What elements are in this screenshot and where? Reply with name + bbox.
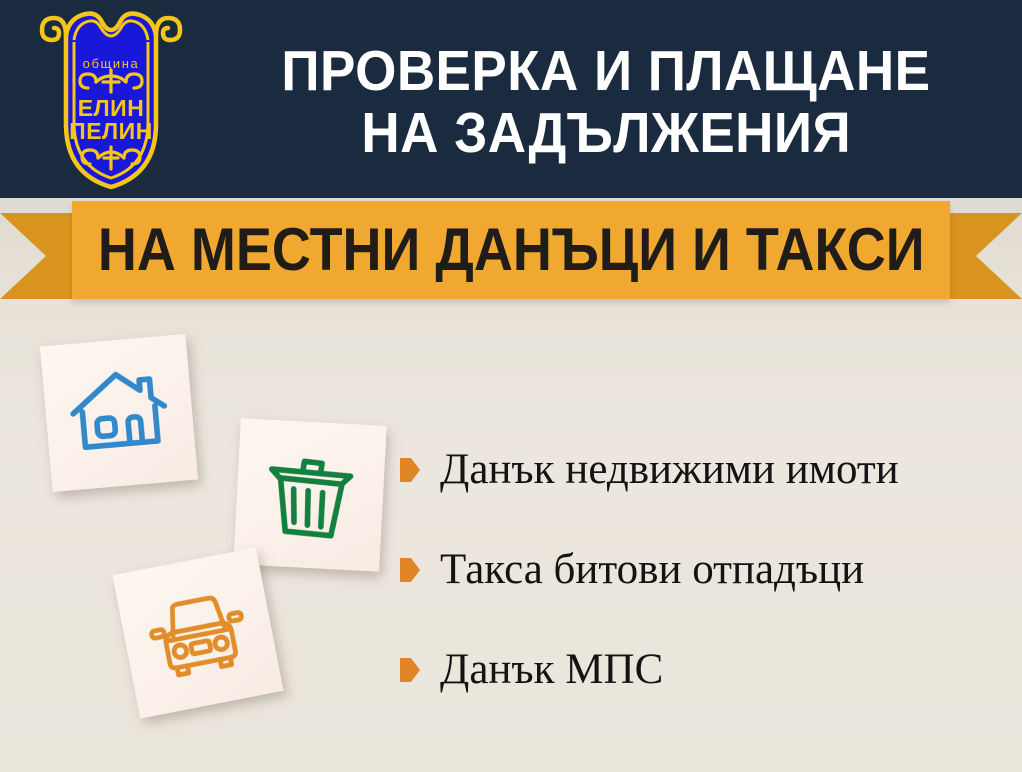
ribbon-banner: НА МЕСТНИ ДАНЪЦИ И ТАКСИ: [72, 201, 950, 299]
list-item[interactable]: Данък МПС: [400, 620, 1010, 720]
bullet-arrow-icon: [400, 458, 420, 482]
stamp-card-property: [16, 310, 222, 516]
ribbon-label: НА МЕСТНИ ДАНЪЦИ И ТАКСИ: [98, 218, 925, 282]
list-item-label: Такса битови отпадъци: [440, 546, 864, 594]
list-item[interactable]: Такса битови отпадъци: [400, 520, 1010, 620]
page-title-line-2: НА ЗАДЪЛЖЕНИЯ: [361, 102, 851, 164]
logo-name-line-2: ПЕЛИН: [69, 118, 153, 144]
tax-type-list: Данък недвижими имоти Такса битови отпад…: [400, 420, 1010, 720]
bullet-arrow-icon: [400, 558, 420, 582]
stamp-inner-vehicle: [112, 547, 283, 718]
stamp-inner-property: [40, 334, 198, 492]
bullet-arrow-icon: [400, 658, 420, 682]
header-bar: община ЕЛИН ПЕЛИН: [0, 0, 1022, 198]
list-item[interactable]: Данък недвижими имоти: [400, 420, 1010, 520]
list-item-label: Данък недвижими имоти: [440, 446, 899, 494]
header-title-block: ПРОВЕРКА И ПЛАЩАНЕ НА ЗАДЪЛЖЕНИЯ: [190, 0, 1022, 198]
coat-of-arms-icon: община ЕЛИН ПЕЛИН: [36, 6, 186, 192]
house-icon: [63, 357, 176, 470]
car-front-icon: [137, 572, 259, 694]
municipality-logo: община ЕЛИН ПЕЛИН: [36, 6, 186, 192]
list-item-label: Данък МПС: [440, 646, 663, 694]
poster-root: община ЕЛИН ПЕЛИН: [0, 0, 1022, 772]
page-title-line-1: ПРОВЕРКА И ПЛАЩАНЕ: [281, 40, 930, 102]
stamp-card-vehicle: [87, 522, 310, 745]
subtitle-ribbon: НА МЕСТНИ ДАНЪЦИ И ТАКСИ: [0, 199, 1022, 303]
